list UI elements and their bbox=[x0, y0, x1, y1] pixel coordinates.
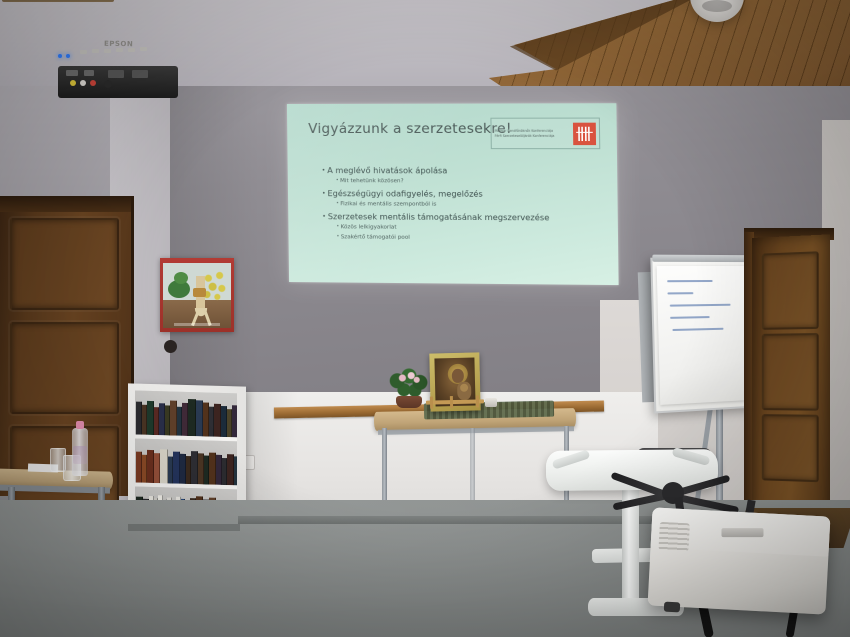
projector-vga-port bbox=[108, 70, 124, 78]
room-photo-scene: Vigyázzunk a szerzetesekre! Magyar Rendf… bbox=[0, 0, 850, 637]
slide-bullet-list: A meglévő hivatások ápolása Mit tehetünk… bbox=[322, 166, 608, 247]
bookshelf-top-item bbox=[2, 0, 114, 2]
baseboard bbox=[128, 524, 240, 531]
center-table-leg bbox=[470, 428, 475, 500]
bookshelf-row bbox=[135, 391, 237, 438]
left-door-header bbox=[0, 196, 131, 212]
projector-rca-white bbox=[80, 80, 86, 86]
handwritten-line bbox=[672, 328, 723, 331]
slide-bullet: Szerzetesek mentális támogatásának megsz… bbox=[322, 212, 607, 222]
projected-slide: Vigyázzunk a szerzetesekre! Magyar Rendf… bbox=[287, 103, 619, 285]
handwritten-line bbox=[667, 280, 713, 282]
door-panel bbox=[762, 251, 819, 330]
book-group bbox=[136, 395, 236, 438]
projector-foot bbox=[664, 602, 681, 613]
projector-button[interactable] bbox=[104, 49, 111, 53]
projector-button[interactable] bbox=[116, 48, 123, 52]
slide-bullet: Közös lelkigyakorlat bbox=[336, 225, 607, 232]
slide-bullet: Fizikai és mentális szempontból is bbox=[336, 202, 607, 209]
projector-lens-cover bbox=[721, 528, 763, 537]
slide-bullet: Mit tehetünk közösen? bbox=[336, 179, 607, 186]
icon-wooden-stand bbox=[426, 395, 484, 408]
book-group bbox=[136, 443, 236, 486]
water-bottle bbox=[72, 428, 88, 476]
right-wooden-door[interactable] bbox=[752, 234, 830, 523]
projector-status-led bbox=[66, 54, 70, 58]
projector-button[interactable] bbox=[80, 50, 87, 54]
projector-button[interactable] bbox=[92, 49, 99, 53]
slide-bullet: Szakértő támogatói pool bbox=[337, 235, 608, 243]
handwritten-line bbox=[670, 304, 731, 307]
slide-logo-line2: Férfi Szerzeteselöljárók Konferenciája bbox=[495, 133, 569, 138]
projector[interactable] bbox=[648, 507, 831, 614]
poster-tree-foliage-green2 bbox=[174, 272, 188, 284]
projector-audio-jack bbox=[104, 80, 112, 88]
votive-candle bbox=[485, 398, 497, 407]
potted-plant-pot bbox=[396, 396, 422, 408]
projector-rca-yellow bbox=[70, 80, 76, 86]
potted-plant-flowers bbox=[398, 372, 420, 384]
slide-logo: Magyar Rendfőnöknők Konferenciája Férfi … bbox=[490, 118, 600, 150]
poster-caption bbox=[174, 323, 220, 326]
door-panel bbox=[10, 322, 119, 414]
projector-hdmi-port bbox=[132, 70, 148, 78]
projector-rca-red bbox=[90, 80, 96, 86]
slide-title: Vigyázzunk a szerzetesekre! bbox=[308, 121, 512, 137]
wall-mounted-dot bbox=[164, 340, 177, 353]
projector-button[interactable] bbox=[128, 48, 135, 52]
projector-status-led bbox=[58, 54, 62, 58]
tree-poster bbox=[160, 258, 234, 332]
handwritten-line bbox=[670, 316, 710, 318]
baseboard bbox=[238, 516, 658, 524]
slide-logo-text: Magyar Rendfőnöknők Konferenciája Férfi … bbox=[495, 129, 569, 138]
door-panel bbox=[762, 414, 819, 482]
slide-logo-mark-icon bbox=[573, 122, 596, 144]
projector-lan-port bbox=[84, 70, 94, 76]
projector-button[interactable] bbox=[140, 47, 147, 51]
projector-brand-label: EPSON bbox=[104, 40, 133, 49]
bookshelf-row bbox=[135, 439, 237, 486]
handwritten-line bbox=[667, 292, 693, 294]
projector-usb-port bbox=[66, 70, 78, 76]
slide-bullet: A meglévő hivatások ápolása bbox=[322, 166, 607, 175]
projector-vent bbox=[658, 522, 689, 552]
door-panel bbox=[10, 218, 119, 310]
left-wooden-door[interactable] bbox=[0, 196, 134, 496]
poster-tree-hive bbox=[193, 288, 206, 297]
slide-bullet: Egészségügyi odafigyelés, megelőzés bbox=[322, 189, 607, 199]
door-panel bbox=[762, 333, 819, 411]
